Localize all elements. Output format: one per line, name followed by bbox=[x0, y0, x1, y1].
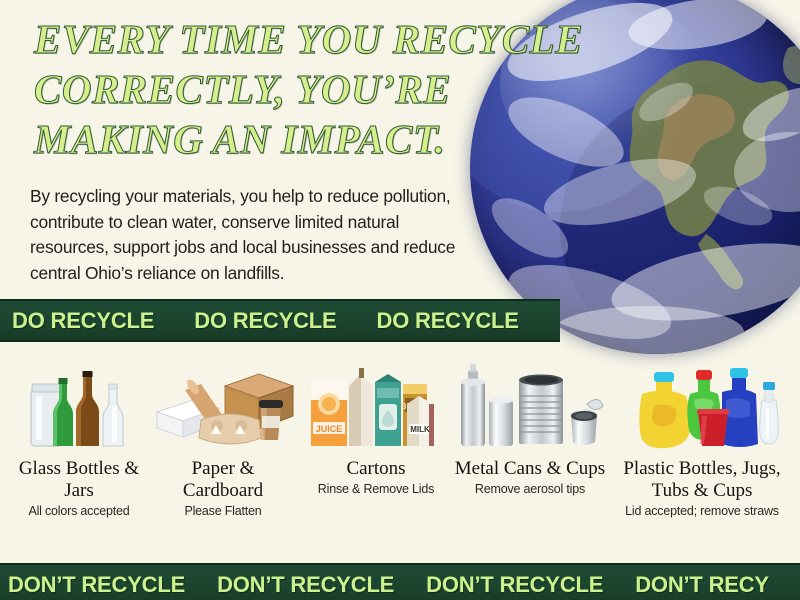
dont-recycle-label: DON’T RECYCLE bbox=[217, 574, 426, 596]
glass-bottles-icon bbox=[8, 360, 150, 452]
item-label: Cartons bbox=[300, 458, 452, 480]
plastic-bottles-icon bbox=[606, 360, 798, 452]
item-label: Metal Cans & Cups bbox=[452, 458, 608, 480]
dont-recycle-label: DON’T RECY bbox=[635, 574, 800, 596]
do-recycle-label: DO RECYCLE bbox=[0, 310, 194, 332]
cartons-icon: JUICE bbox=[300, 360, 452, 452]
carton-juice-text: JUICE bbox=[316, 424, 343, 434]
do-recycle-label: DO RECYCLE bbox=[194, 310, 376, 332]
headline-line-2: CORRECTLY, YOU’RE bbox=[34, 64, 554, 114]
intro-paragraph: By recycling your materials, you help to… bbox=[30, 184, 482, 286]
page-title: EVERY TIME YOU RECYCLE CORRECTLY, YOU’RE… bbox=[34, 14, 554, 164]
item-label: Glass Bottles & Jars bbox=[8, 458, 150, 502]
item-note: Remove aerosol tips bbox=[452, 482, 608, 497]
item-plastic-bottles: Plastic Bottles, Jugs, Tubs & Cups Lid a… bbox=[606, 360, 798, 519]
dont-recycle-banner: DON’T RECYCLE DON’T RECYCLE DON’T RECYCL… bbox=[0, 563, 800, 600]
infographic-canvas: EVERY TIME YOU RECYCLE CORRECTLY, YOU’RE… bbox=[0, 0, 800, 600]
carton-milk-text: MILK bbox=[410, 425, 430, 434]
item-note: All colors accepted bbox=[8, 504, 150, 519]
item-label: Paper & Cardboard bbox=[148, 458, 298, 502]
do-recycle-banner: DO RECYCLE DO RECYCLE DO RECYCLE bbox=[0, 299, 560, 342]
item-label: Plastic Bottles, Jugs, Tubs & Cups bbox=[606, 458, 798, 502]
item-note: Rinse & Remove Lids bbox=[300, 482, 452, 497]
item-metal-cans: Metal Cans & Cups Remove aerosol tips bbox=[452, 360, 608, 497]
item-cartons: JUICE bbox=[300, 360, 452, 497]
do-recycle-label: DO RECYCLE bbox=[377, 310, 559, 332]
headline-line-3: MAKING AN IMPACT. bbox=[34, 114, 554, 164]
paper-cardboard-icon bbox=[148, 360, 298, 452]
dont-recycle-label: DON’T RECYCLE bbox=[0, 574, 217, 596]
recyclable-items-row: Glass Bottles & Jars All colors accepted bbox=[0, 352, 800, 552]
dont-recycle-label: DON’T RECYCLE bbox=[426, 574, 635, 596]
item-note: Please Flatten bbox=[148, 504, 298, 519]
headline-line-1: EVERY TIME YOU RECYCLE bbox=[34, 14, 554, 64]
item-paper-cardboard: Paper & Cardboard Please Flatten bbox=[148, 360, 298, 519]
item-note: Lid accepted; remove straws bbox=[606, 504, 798, 519]
item-glass-bottles: Glass Bottles & Jars All colors accepted bbox=[8, 360, 150, 519]
metal-cans-icon bbox=[452, 360, 608, 452]
